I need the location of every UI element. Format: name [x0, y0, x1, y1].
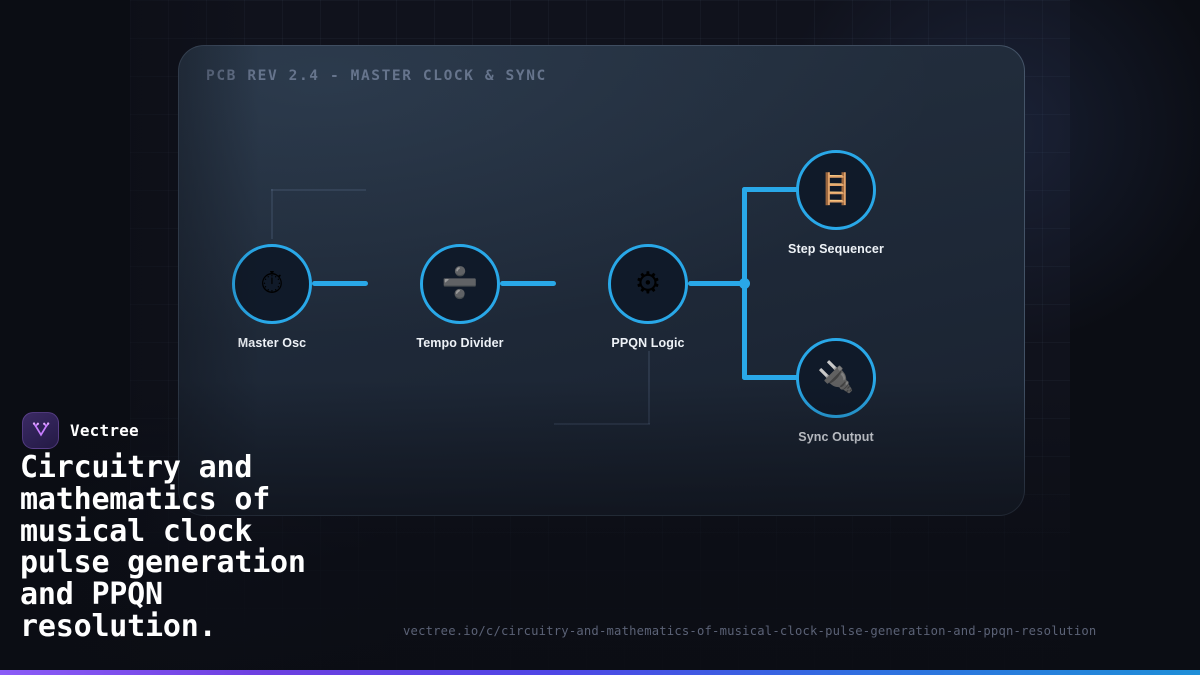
share-card: PCB REV 2.4 - MASTER CLOCK & SYNC ⏱ Mast…	[0, 0, 1200, 675]
bottom-accent-bar	[0, 670, 1200, 675]
node-sync-output-label: Sync Output	[798, 430, 873, 444]
node-tempo-divider[interactable]: ➗ Tempo Divider	[420, 244, 500, 324]
brand-name: Vectree	[70, 421, 139, 440]
node-tempo-divider-label: Tempo Divider	[416, 336, 503, 350]
article-url: vectree.io/c/circuitry-and-mathematics-o…	[403, 624, 1096, 638]
node-ppqn-logic-label: PPQN Logic	[611, 336, 684, 350]
node-tempo-divider-disc: ➗	[420, 244, 500, 324]
decor-trace-bottom-vertical	[648, 351, 650, 424]
plug-icon: 🔌	[817, 363, 854, 393]
node-ppqn-logic-disc: ⚙	[608, 244, 688, 324]
edge-tempo-divider-to-ppqn-logic	[500, 281, 556, 286]
decor-trace-bottom-horizontal	[554, 423, 650, 425]
node-ppqn-logic[interactable]: ⚙ PPQN Logic	[608, 244, 688, 324]
page-title: Circuitry and mathematics of musical clo…	[20, 452, 420, 643]
brand-block: Vectree	[22, 412, 139, 449]
node-sync-output[interactable]: 🔌 Sync Output	[796, 338, 876, 418]
decor-trace-top-vertical	[271, 189, 273, 239]
edge-junction-dot	[739, 278, 750, 289]
decor-trace-top-horizontal	[271, 189, 366, 191]
diagram-card: PCB REV 2.4 - MASTER CLOCK & SYNC ⏱ Mast…	[178, 45, 1025, 516]
node-master-osc-label: Master Osc	[238, 336, 306, 350]
node-master-osc-disc: ⏱	[232, 244, 312, 324]
divide-icon: ➗	[441, 269, 478, 299]
node-step-sequencer[interactable]: 🪜 Step Sequencer	[796, 150, 876, 230]
node-master-osc[interactable]: ⏱ Master Osc	[232, 244, 312, 324]
node-step-sequencer-label: Step Sequencer	[788, 242, 884, 256]
gear-icon: ⚙	[635, 269, 662, 299]
stopwatch-icon: ⏱	[260, 269, 283, 299]
node-sync-output-disc: 🔌	[796, 338, 876, 418]
edge-master-osc-to-tempo-divider	[312, 281, 368, 286]
node-step-sequencer-disc: 🪜	[796, 150, 876, 230]
edge-junction-to-sync-output	[742, 375, 802, 380]
vectree-branch-icon	[22, 412, 59, 449]
card-title: PCB REV 2.4 - MASTER CLOCK & SYNC	[206, 68, 547, 84]
edge-junction-to-step-sequencer	[742, 187, 802, 192]
ladder-icon: 🪜	[817, 175, 854, 205]
